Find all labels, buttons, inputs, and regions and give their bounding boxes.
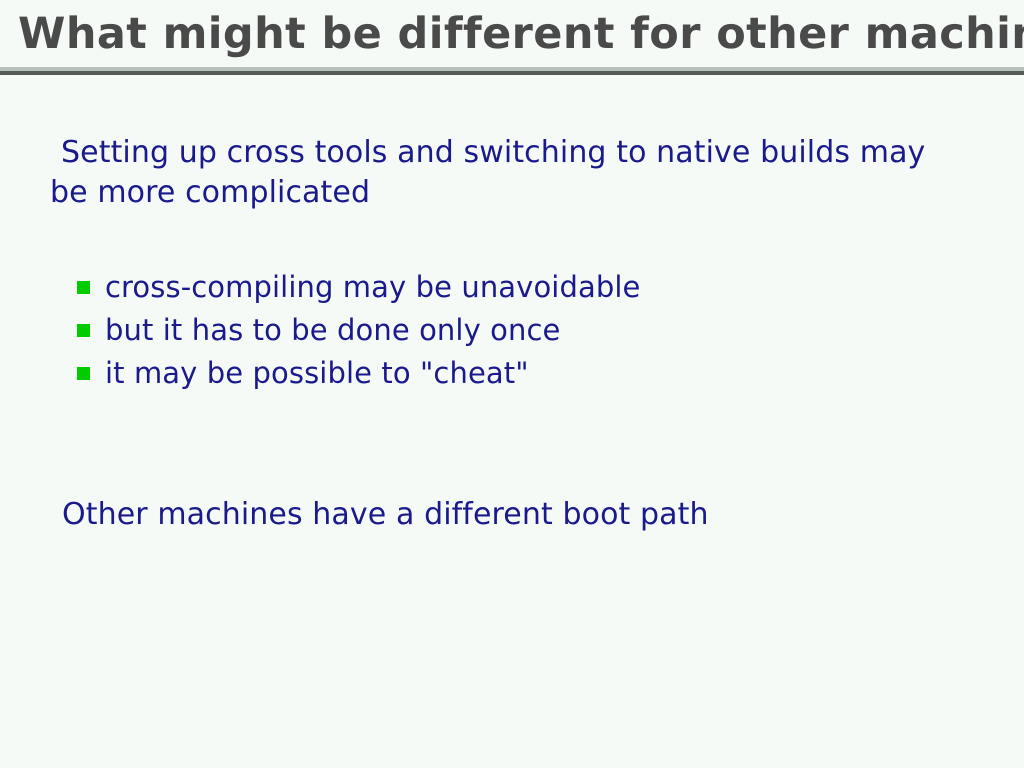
- list-item: cross-compiling may be unavoidable: [77, 267, 937, 310]
- slide: What might be different for other machin…: [0, 0, 1024, 768]
- intro-paragraph: Setting up cross tools and switching to …: [50, 133, 980, 213]
- intro-paragraph-line-1: Setting up cross tools and switching to …: [50, 133, 980, 173]
- title-divider: [0, 67, 1024, 75]
- page-title: What might be different for other machin…: [18, 6, 1013, 64]
- intro-paragraph-line-2: be more complicated: [50, 173, 980, 213]
- bullet-list: cross-compiling may be unavoidable but i…: [77, 267, 937, 396]
- list-item-label: it may be possible to "cheat": [105, 353, 529, 393]
- list-item: but it has to be done only once: [77, 310, 937, 353]
- square-bullet-icon: [77, 367, 90, 380]
- list-item-label: cross-compiling may be unavoidable: [105, 267, 640, 307]
- square-bullet-icon: [77, 281, 90, 294]
- list-item: it may be possible to "cheat": [77, 353, 937, 396]
- square-bullet-icon: [77, 324, 90, 337]
- slide-body: Setting up cross tools and switching to …: [0, 75, 1024, 768]
- closing-paragraph: Other machines have a different boot pat…: [62, 495, 962, 535]
- list-item-label: but it has to be done only once: [105, 310, 560, 350]
